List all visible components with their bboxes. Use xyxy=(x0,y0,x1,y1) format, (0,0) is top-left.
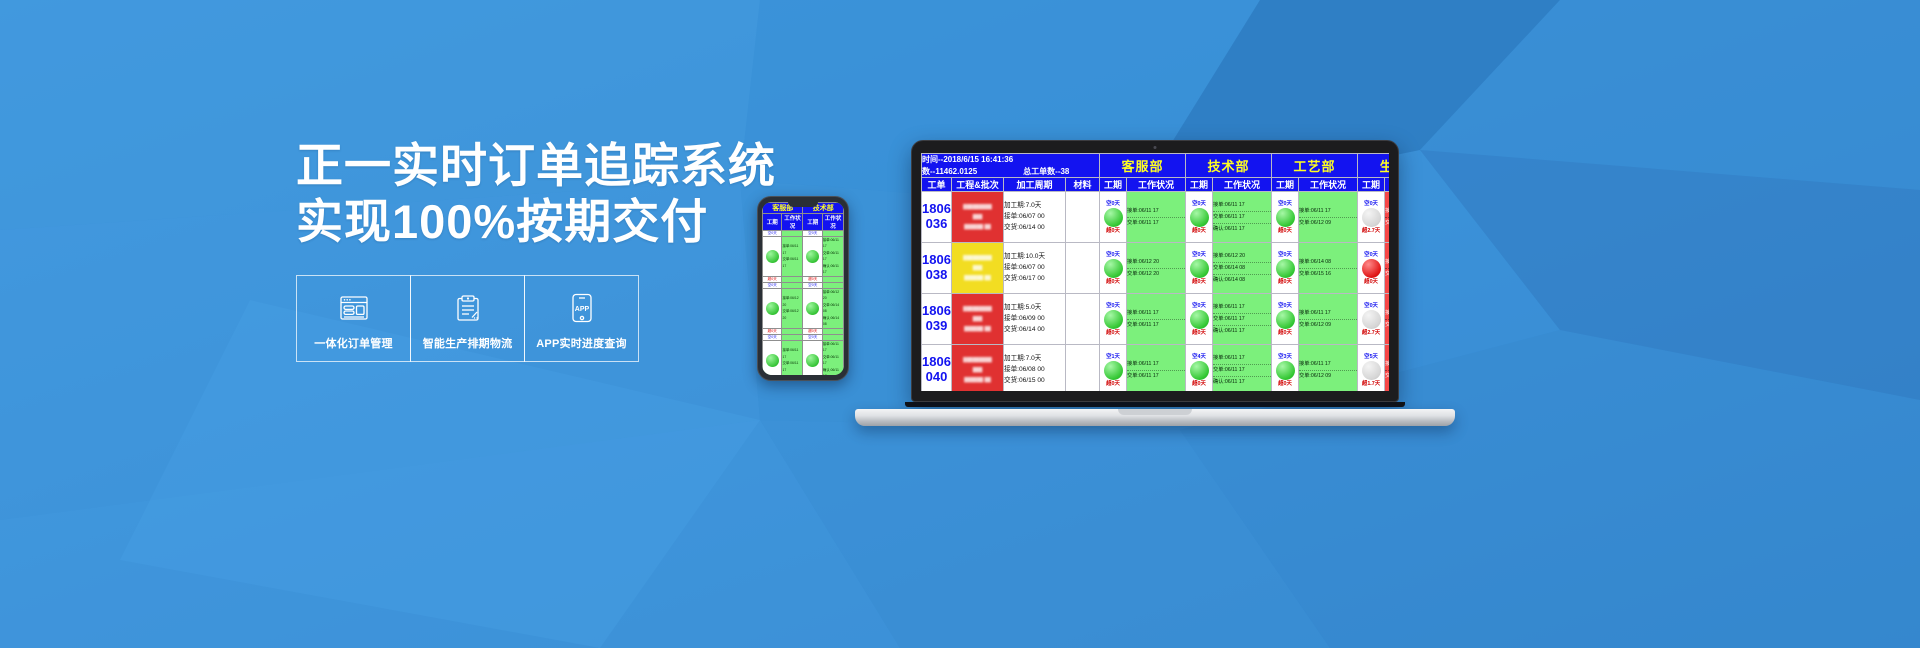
work-line: 交单:06/12 09 xyxy=(1299,217,1357,229)
cell-light-生产部[interactable]: 空0天超2.7天 xyxy=(1358,192,1385,243)
feature-label: 一体化订单管理 xyxy=(299,335,408,351)
col-生产部-工作状况: 工作状况 xyxy=(1385,178,1389,192)
status-light-green xyxy=(1190,310,1209,329)
dept-header-工艺部: 工艺部 xyxy=(1272,154,1358,178)
cell-light-客服部[interactable]: 空0天超0天 xyxy=(1100,294,1127,345)
work-line: 接单:06/12 09 xyxy=(1385,359,1389,370)
cell-work-status-生产部[interactable]: 接单:06/12 09交单: xyxy=(1385,345,1389,391)
phone-work-line: 接单:06/12 20 xyxy=(823,289,843,302)
cell-light-客服部[interactable]: 空1天超0天 xyxy=(1100,345,1127,391)
phone-work-status[interactable]: 接单:06/11 17交单:06/11 17确认:06/11 17 xyxy=(822,237,843,277)
laptop-screen[interactable]: 时间--2018/6/15 16:41:36数--11462.0125总工单数-… xyxy=(921,153,1389,391)
cell-processing-cycle: 加工期:7.0天接单:06/07 00交货:06/14 00 xyxy=(1004,192,1066,243)
work-line: 交单:06/15 16 xyxy=(1299,268,1357,280)
phone-status-light-green[interactable] xyxy=(763,237,782,277)
phone-status-light-green[interactable] xyxy=(803,237,822,277)
phone-col-客服部-工期: 工期 xyxy=(763,214,782,231)
status-light-gray xyxy=(1362,310,1381,329)
cell-light-技术部[interactable]: 空0天超0天 xyxy=(1186,243,1213,294)
status-light-green xyxy=(1190,361,1209,380)
phone-work-line: 确认:06/14 08 xyxy=(823,315,843,328)
work-line: 接单:06/11 17 xyxy=(1299,308,1357,319)
cell-work-status-工艺部[interactable]: 接单:06/11 17交单:06/12 09 xyxy=(1299,192,1358,243)
phone-screen[interactable]: 客服部技术部工期工作状况工期工作状况空0天空0天接单:06/11 17交单:06… xyxy=(762,202,844,375)
cell-light-生产部[interactable]: 空0天超2.7天 xyxy=(1358,294,1385,345)
cell-work-status-工艺部[interactable]: 接单:06/11 17交单:06/12 09 xyxy=(1299,294,1358,345)
badge-over: 超0天 xyxy=(1358,278,1384,286)
phone-status-light-green[interactable] xyxy=(763,288,782,328)
table-header-columns: 工单工程&批次加工周期材料工期工作状况工期工作状况工期工作状况工期工作状况工期工… xyxy=(922,178,1390,192)
cell-project-batch: ██████████████████ ██ xyxy=(952,345,1004,391)
cell-material xyxy=(1066,294,1100,345)
cell-work-status-工艺部[interactable]: 接单:06/14 08交单:06/15 16 xyxy=(1299,243,1358,294)
cell-light-客服部[interactable]: 空0天超0天 xyxy=(1100,243,1127,294)
webcam-icon xyxy=(1154,146,1157,149)
work-line: 接单:06/11 17 xyxy=(1299,359,1357,370)
phone-notch xyxy=(788,202,818,207)
badge-over: 超0天 xyxy=(1272,227,1298,235)
badge-free: 空0天 xyxy=(1100,200,1126,208)
laptop-hinge xyxy=(905,402,1405,407)
phone-col-技术部-工作状况: 工作状况 xyxy=(822,214,843,231)
status-light-gray xyxy=(1362,208,1381,227)
cell-work-status-技术部[interactable]: 接单:06/11 17交单:06/11 17确认:06/11 17 xyxy=(1213,294,1272,345)
work-line: 交单:06/12 09 xyxy=(1299,319,1357,331)
cell-work-status-生产部[interactable]: 接单:06/12 09交单: xyxy=(1385,192,1389,243)
work-line: 确认:06/11 17 xyxy=(1213,325,1271,337)
work-line: 交单:06/12 09 xyxy=(1299,370,1357,382)
screen-number-label: 数--11462.0125 xyxy=(922,166,977,178)
col-工程&批次: 工程&批次 xyxy=(952,178,1004,192)
badge-free: 空0天 xyxy=(1358,302,1384,310)
cell-processing-cycle: 加工期:7.0天接单:06/08 00交货:06/15 00 xyxy=(1004,345,1066,391)
status-light-green xyxy=(1276,208,1295,227)
cell-processing-cycle: 加工期:10.0天接单:06/07 00交货:06/17 00 xyxy=(1004,243,1066,294)
work-line: 交单:06/11 17 xyxy=(1213,313,1271,325)
badge-free: 空0天 xyxy=(1186,251,1212,259)
col-技术部-工期: 工期 xyxy=(1186,178,1213,192)
phone-list-item[interactable]: 接单:06/12 20交单:06/12 20接单:06/12 20交单:06/1… xyxy=(763,288,844,328)
cell-work-order: 1806039 xyxy=(922,294,952,345)
cell-material xyxy=(1066,243,1100,294)
laptop-mockup: 时间--2018/6/15 16:41:36数--11462.0125总工单数-… xyxy=(855,140,1455,426)
phone-work-line: 接单:06/11 17 xyxy=(782,347,802,360)
cell-work-status-技术部[interactable]: 接单:06/11 17交单:06/11 17确认:06/11 17 xyxy=(1213,192,1272,243)
badge-over: 超0天 xyxy=(1272,329,1298,337)
table-header-top: 时间--2018/6/15 16:41:36数--11462.0125总工单数-… xyxy=(922,154,1390,178)
badge-free: 空0天 xyxy=(1186,302,1212,310)
cell-light-技术部[interactable]: 空4天超0天 xyxy=(1186,345,1213,391)
work-line: 确认:06/11 17 xyxy=(1213,223,1271,235)
badge-free: 空5天 xyxy=(1358,353,1384,361)
feature-item-order-management[interactable]: 一体化订单管理 xyxy=(296,275,411,362)
cell-work-status-生产部[interactable]: 接单:06/12 09交单: xyxy=(1385,294,1389,345)
status-light-red xyxy=(1362,259,1381,278)
phone-body: 客服部技术部工期工作状况工期工作状况空0天空0天接单:06/11 17交单:06… xyxy=(757,196,849,381)
status-light-green xyxy=(1104,361,1123,380)
cell-light-技术部[interactable]: 空0天超0天 xyxy=(1186,192,1213,243)
work-line: 交单:06/12 20 xyxy=(1127,268,1185,280)
cell-light-工艺部[interactable]: 空0天超0天 xyxy=(1272,294,1299,345)
cell-processing-cycle: 加工期:5.0天接单:06/09 00交货:06/14 00 xyxy=(1004,294,1066,345)
phone-work-line: 接单:06/11 17 xyxy=(823,341,843,354)
work-line: 交单:06/14 08 xyxy=(1213,262,1271,274)
work-line: 确认:06/14 08 xyxy=(1213,274,1271,286)
cell-work-status-技术部[interactable]: 接单:06/11 17交单:06/11 17确认:06/11 17 xyxy=(1213,345,1272,391)
work-line: 接单:06/11 17 xyxy=(1127,206,1185,217)
col-客服部-工作状况: 工作状况 xyxy=(1127,178,1186,192)
badge-free: 空0天 xyxy=(1272,251,1298,259)
work-line: 交单: xyxy=(1385,319,1389,331)
cell-material xyxy=(1066,345,1100,391)
phone-list-item[interactable]: 接单:06/11 17交单:06/11 17接单:06/11 17交单:06/1… xyxy=(763,340,844,375)
cell-light-工艺部[interactable]: 空3天超0天 xyxy=(1272,345,1299,391)
work-line: 接单:06/11 17 xyxy=(1127,308,1185,319)
status-light-green xyxy=(1276,310,1295,329)
cell-work-order: 1806036 xyxy=(922,192,952,243)
badge-free: 空4天 xyxy=(1186,353,1212,361)
mobile-app-icon: APP xyxy=(527,290,636,326)
badge-over: 超1.7天 xyxy=(1358,380,1384,388)
order-card-icon xyxy=(299,290,408,326)
dept-header-技术部: 技术部 xyxy=(1186,154,1272,178)
phone-col-客服部-工作状况: 工作状况 xyxy=(782,214,803,231)
work-line: 接单:06/12 09 xyxy=(1385,206,1389,217)
phone-work-line: 交单:06/11 17 xyxy=(782,360,802,373)
cell-work-status-技术部[interactable]: 接单:06/12 20交单:06/14 08确认:06/14 08 xyxy=(1213,243,1272,294)
cell-light-工艺部[interactable]: 空0天超0天 xyxy=(1272,192,1299,243)
work-line: 交单:06/11 17 xyxy=(1213,211,1271,223)
cell-light-客服部[interactable]: 空0天超0天 xyxy=(1100,192,1127,243)
phone-work-status[interactable]: 接单:06/11 17交单:06/11 17 xyxy=(782,340,803,375)
work-line: 交单:06/11 17 xyxy=(1213,364,1271,376)
table-row[interactable]: 1806039██████████████████ ██加工期:5.0天接单:0… xyxy=(922,294,1390,345)
badge-free: 空0天 xyxy=(1272,200,1298,208)
phone-work-line: 接单:06/11 17 xyxy=(782,243,802,256)
phone-work-line: 接单:06/11 17 xyxy=(823,237,843,250)
cell-project-batch: ██████████████████ ██ xyxy=(952,294,1004,345)
cell-material xyxy=(1066,192,1100,243)
cell-light-生产部[interactable]: 空0天超0天 xyxy=(1358,243,1385,294)
work-line: 接单:06/11 17 xyxy=(1213,302,1271,313)
phone-erp-table[interactable]: 客服部技术部工期工作状况工期工作状况空0天空0天接单:06/11 17交单:06… xyxy=(762,202,844,375)
work-line: 交单: xyxy=(1385,370,1389,382)
work-line: 接单:06/15 16 xyxy=(1385,257,1389,268)
work-line: 接单:06/11 17 xyxy=(1127,359,1185,370)
status-light-green xyxy=(1276,259,1295,278)
col-工单: 工单 xyxy=(922,178,952,192)
badge-free: 空0天 xyxy=(1358,251,1384,259)
work-line: 接单:06/12 20 xyxy=(1127,257,1185,268)
table-row[interactable]: 1806036██████████████████ ██加工期:7.0天接单:0… xyxy=(922,192,1390,243)
status-light-green xyxy=(1104,208,1123,227)
badge-free: 空3天 xyxy=(1272,353,1298,361)
feature-label: APP实时进度查询 xyxy=(527,335,636,351)
laptop-base xyxy=(855,409,1455,426)
work-line: 交单:06/11 17 xyxy=(1127,370,1185,382)
table-row[interactable]: 1806040██████████████████ ██加工期:7.0天接单:0… xyxy=(922,345,1390,391)
phone-work-line: 确认:06/11 17 xyxy=(823,263,843,276)
cell-work-status-客服部[interactable]: 接单:06/11 17交单:06/11 17 xyxy=(1127,345,1186,391)
work-line: 接单:06/12 20 xyxy=(1213,251,1271,262)
status-light-green xyxy=(1104,259,1123,278)
badge-free: 空1天 xyxy=(1100,353,1126,361)
badge-over: 超0天 xyxy=(1186,329,1212,337)
screen-time-label: 时间--2018/6/15 16:41:36 xyxy=(922,154,1099,166)
phone-work-status[interactable]: 接单:06/12 20交单:06/14 08确认:06/14 08 xyxy=(822,288,843,328)
phone-work-line: 交单:06/14 08 xyxy=(823,302,843,315)
phone-work-status[interactable]: 接单:06/11 17交单:06/11 17确认:06/11 17 xyxy=(822,340,843,375)
phone-col-技术部-工期: 工期 xyxy=(803,214,822,231)
phone-list-item[interactable]: 接单:06/11 17交单:06/11 17接单:06/11 17交单:06/1… xyxy=(763,237,844,277)
cell-work-status-客服部[interactable]: 接单:06/11 17交单:06/11 17 xyxy=(1127,294,1186,345)
work-line: 交单:06/11 17 xyxy=(1127,319,1185,331)
col-技术部-工作状况: 工作状况 xyxy=(1213,178,1272,192)
feature-item-production-scheduling[interactable]: 智能生产排期物流 xyxy=(410,275,525,362)
phone-work-line: 交单:06/11 17 xyxy=(823,354,843,367)
work-line: 接单:06/12 09 xyxy=(1385,308,1389,319)
badge-over: 超0天 xyxy=(1272,380,1298,388)
badge-free: 空0天 xyxy=(1272,302,1298,310)
phone-status-light-green[interactable] xyxy=(763,340,782,375)
col-材料: 材料 xyxy=(1066,178,1100,192)
screen-info-block: 时间--2018/6/15 16:41:36数--11462.0125总工单数-… xyxy=(922,154,1100,178)
phone-status-light-green[interactable] xyxy=(803,288,822,328)
laptop-lid: 时间--2018/6/15 16:41:36数--11462.0125总工单数-… xyxy=(911,140,1399,402)
col-客服部-工期: 工期 xyxy=(1100,178,1127,192)
feature-list: 一体化订单管理 智能生产排期物流 xyxy=(296,275,638,362)
work-line: 交单: xyxy=(1385,268,1389,280)
badge-over: 超0天 xyxy=(1100,227,1126,235)
badge-over: 超0天 xyxy=(1186,227,1212,235)
phone-status-light-green[interactable] xyxy=(803,340,822,375)
badge-over: 超0天 xyxy=(1100,380,1126,388)
cell-work-status-客服部[interactable]: 接单:06/11 17交单:06/11 17 xyxy=(1127,192,1186,243)
badge-over: 超0天 xyxy=(1186,380,1212,388)
work-line: 接单:06/11 17 xyxy=(1213,353,1271,364)
badge-free: 空0天 xyxy=(1100,302,1126,310)
col-工艺部-工作状况: 工作状况 xyxy=(1299,178,1358,192)
app-badge-text: APP xyxy=(574,306,589,313)
badge-over: 超0天 xyxy=(1100,329,1126,337)
dept-header-客服部: 客服部 xyxy=(1100,154,1186,178)
cell-project-batch: ██████████████████ ██ xyxy=(952,192,1004,243)
phone-mockup: 客服部技术部工期工作状况工期工作状况空0天空0天接单:06/11 17交单:06… xyxy=(757,196,849,381)
badge-over: 超2.7天 xyxy=(1358,227,1384,235)
cell-light-工艺部[interactable]: 空0天超0天 xyxy=(1272,243,1299,294)
phone-work-line: 确认:06/11 17 xyxy=(823,367,843,376)
cell-work-status-客服部[interactable]: 接单:06/12 20交单:06/12 20 xyxy=(1127,243,1186,294)
status-light-green xyxy=(1104,310,1123,329)
cell-light-技术部[interactable]: 空0天超0天 xyxy=(1186,294,1213,345)
phone-work-line: 交单:06/11 17 xyxy=(782,256,802,269)
cell-work-status-生产部[interactable]: 接单:06/15 16交单: xyxy=(1385,243,1389,294)
col-生产部-工期: 工期 xyxy=(1358,178,1385,192)
phone-work-status[interactable]: 接单:06/12 20交单:06/12 20 xyxy=(782,288,803,328)
work-line: 接单:06/11 17 xyxy=(1213,200,1271,211)
cell-work-order: 1806040 xyxy=(922,345,952,391)
col-加工周期: 加工周期 xyxy=(1004,178,1066,192)
cell-work-order: 1806038 xyxy=(922,243,952,294)
cell-project-batch: ██████████████████ ██ xyxy=(952,243,1004,294)
badge-over: 超0天 xyxy=(1186,278,1212,286)
work-line: 交单:06/11 17 xyxy=(1127,217,1185,229)
erp-order-tracking-table[interactable]: 时间--2018/6/15 16:41:36数--11462.0125总工单数-… xyxy=(921,153,1389,391)
cell-work-status-工艺部[interactable]: 接单:06/11 17交单:06/12 09 xyxy=(1299,345,1358,391)
cell-light-生产部[interactable]: 空5天超1.7天 xyxy=(1358,345,1385,391)
phone-col-header: 工期工作状况工期工作状况 xyxy=(763,214,844,231)
work-line: 接单:06/11 17 xyxy=(1299,206,1357,217)
badge-over: 超0天 xyxy=(1100,278,1126,286)
phone-work-status[interactable]: 接单:06/11 17交单:06/11 17 xyxy=(782,237,803,277)
badge-free: 空0天 xyxy=(1186,200,1212,208)
badge-over: 超0天 xyxy=(1272,278,1298,286)
table-row[interactable]: 1806038██████████████████ ██加工期:10.0天接单:… xyxy=(922,243,1390,294)
status-light-green xyxy=(1190,208,1209,227)
status-light-green xyxy=(1276,361,1295,380)
feature-item-app-progress[interactable]: APP APP实时进度查询 xyxy=(524,275,639,362)
phone-work-line: 接单:06/12 20 xyxy=(782,295,802,308)
col-工艺部-工期: 工期 xyxy=(1272,178,1299,192)
phone-work-line: 交单:06/11 17 xyxy=(823,250,843,263)
screen-total-label: 总工单数--38 xyxy=(1023,166,1069,178)
status-light-green xyxy=(1190,259,1209,278)
badge-free: 空0天 xyxy=(1100,251,1126,259)
clipboard-icon xyxy=(413,290,522,326)
status-light-gray xyxy=(1362,361,1381,380)
badge-free: 空0天 xyxy=(1358,200,1384,208)
work-line: 接单:06/14 08 xyxy=(1299,257,1357,268)
feature-label: 智能生产排期物流 xyxy=(413,335,522,351)
work-line: 交单: xyxy=(1385,217,1389,229)
work-line: 确认:06/11 17 xyxy=(1213,376,1271,388)
phone-work-line: 交单:06/12 20 xyxy=(782,308,802,321)
dept-header-生产部: 生产部 xyxy=(1358,154,1389,178)
badge-over: 超2.7天 xyxy=(1358,329,1384,337)
